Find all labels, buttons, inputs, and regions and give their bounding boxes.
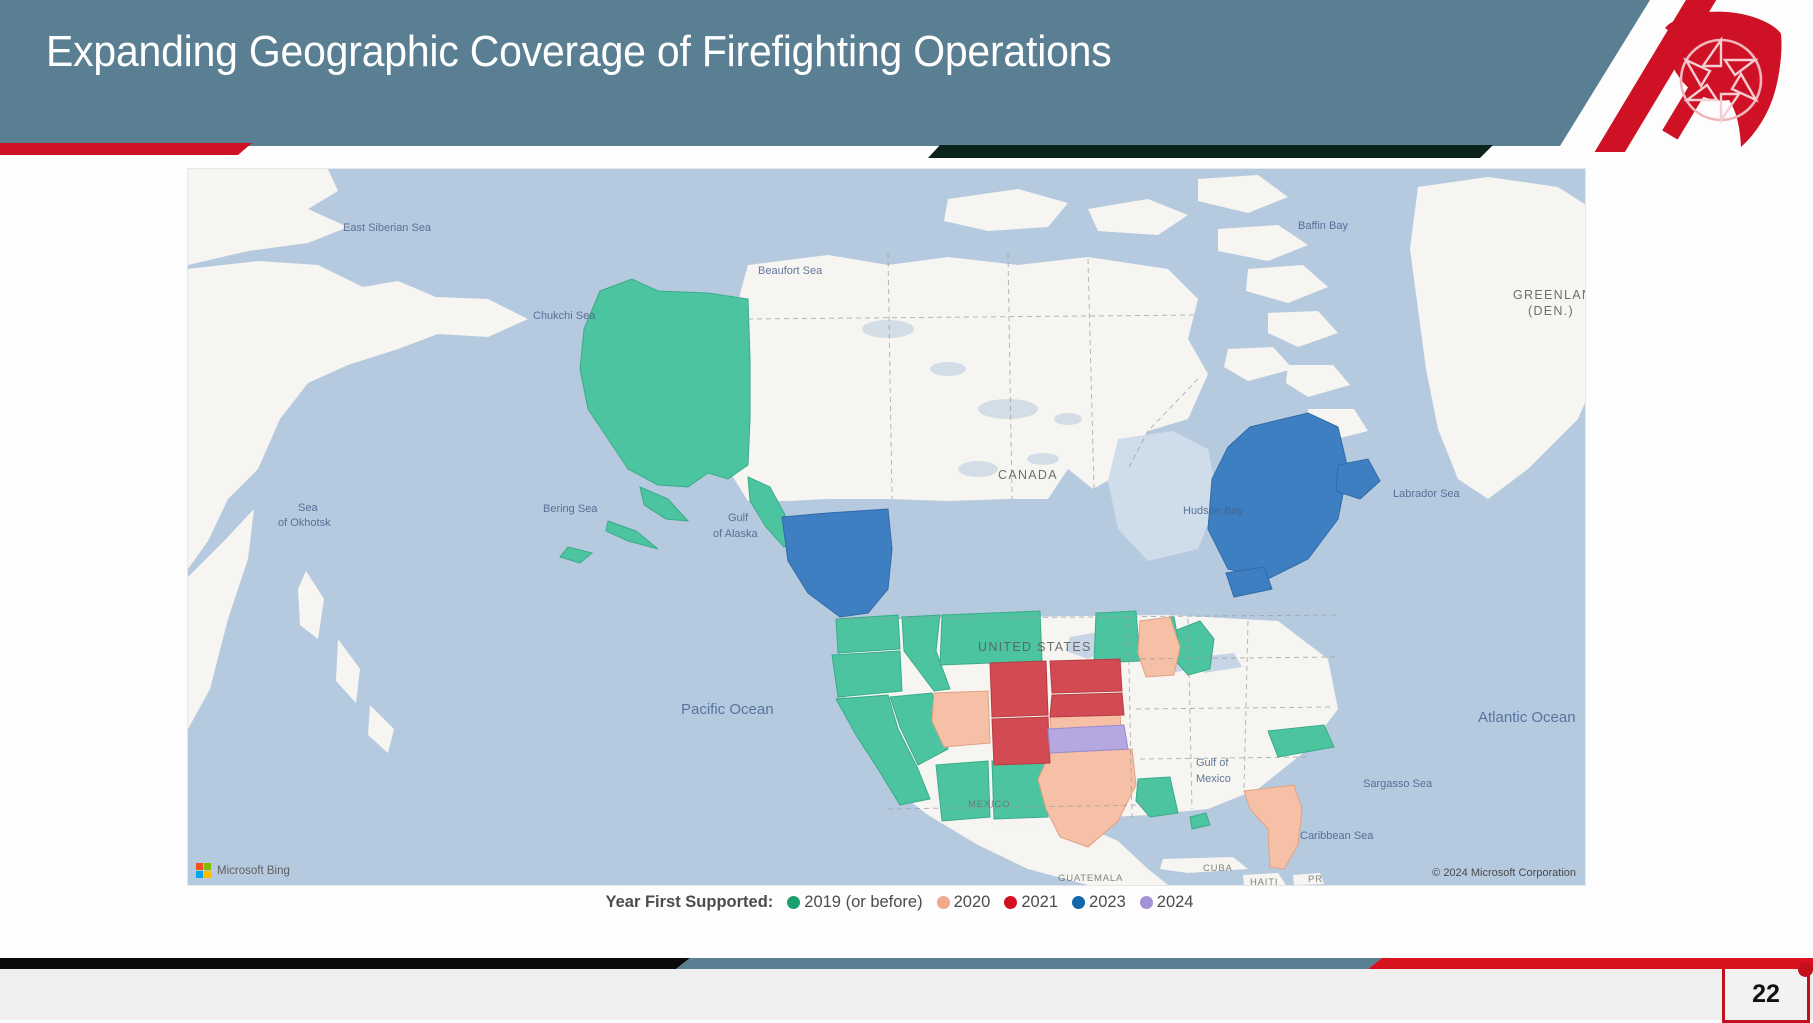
- label-country: CANADA: [998, 468, 1058, 482]
- microsoft-logo-icon: [196, 863, 211, 878]
- bing-attribution-label: Microsoft Bing: [217, 865, 290, 877]
- header-dark-accent-bar: [928, 145, 1493, 158]
- label-sea: Bering Sea: [543, 503, 598, 515]
- footer-accent-bar: [0, 958, 1813, 969]
- label-country: HAITI: [1250, 877, 1278, 885]
- label-sea: Baffin Bay: [1298, 220, 1348, 232]
- legend-label: 2020: [954, 893, 991, 912]
- label-country: GREENLAND: [1513, 288, 1585, 302]
- label-sea: Chukchi Sea: [533, 310, 596, 322]
- legend-dot-icon: [787, 896, 800, 909]
- label-sea: Sea: [298, 502, 318, 514]
- legend-label: 2019 (or before): [804, 893, 922, 912]
- slide-header: Expanding Geographic Coverage of Firefig…: [0, 0, 1813, 152]
- aperture-pin-logo: [1657, 8, 1785, 148]
- page-title: Expanding Geographic Coverage of Firefig…: [46, 27, 1112, 77]
- legend-dot-icon: [1072, 896, 1085, 909]
- legend-item-2020[interactable]: 2020: [937, 893, 991, 912]
- label-sea: Hudson Bay: [1183, 505, 1243, 517]
- label-country: (DEN.): [1528, 304, 1574, 318]
- footer-segment-blue: [676, 958, 1382, 969]
- legend-item-2024[interactable]: 2024: [1140, 893, 1194, 912]
- bing-attribution[interactable]: Microsoft Bing: [196, 863, 290, 878]
- legend-label: 2023: [1089, 893, 1126, 912]
- label-sea: Sargasso Sea: [1363, 778, 1433, 790]
- page-number-box: 22: [1722, 969, 1810, 1023]
- legend-label: 2024: [1157, 893, 1194, 912]
- legend-dot-icon: [937, 896, 950, 909]
- legend-item-2023[interactable]: 2023: [1072, 893, 1126, 912]
- footer-segment-dark: [0, 958, 690, 969]
- page-number: 22: [1752, 980, 1780, 1009]
- label-country: UNITED STATES: [978, 640, 1092, 654]
- footer-segment-red: [1368, 958, 1813, 969]
- legend-title: Year First Supported:: [606, 893, 774, 912]
- label-country: CUBA: [1203, 863, 1233, 874]
- label-sea: Labrador Sea: [1393, 488, 1461, 500]
- label-sea: Gulf: [728, 512, 749, 524]
- page-number-dot-icon: [1798, 962, 1813, 977]
- map-text-labels: East Siberian Sea Beaufort Sea Chukchi S…: [188, 169, 1585, 885]
- legend-label: 2021: [1021, 893, 1058, 912]
- label-sea: of Alaska: [713, 528, 759, 540]
- label-sea: Caribbean Sea: [1300, 830, 1374, 842]
- legend-item-2019[interactable]: 2019 (or before): [787, 893, 922, 912]
- label-sea: Beaufort Sea: [758, 265, 823, 277]
- legend-dot-icon: [1140, 896, 1153, 909]
- footer-area: [0, 969, 1813, 1020]
- choropleth-map[interactable]: East Siberian Sea Beaufort Sea Chukchi S…: [187, 168, 1586, 886]
- label-sea: Gulf of: [1196, 757, 1229, 769]
- label-country: PR: [1308, 874, 1323, 885]
- label-country: GUATEMALA: [1058, 873, 1123, 884]
- legend-item-2021[interactable]: 2021: [1004, 893, 1058, 912]
- map-copyright: © 2024 Microsoft Corporation: [1432, 867, 1576, 879]
- legend-dot-icon: [1004, 896, 1017, 909]
- label-sea: East Siberian Sea: [343, 222, 432, 234]
- label-ocean: Atlantic Ocean: [1478, 709, 1576, 726]
- label-country: MEXICO: [968, 799, 1010, 810]
- map-legend: Year First Supported: 2019 (or before) 2…: [0, 893, 1813, 912]
- label-sea: of Okhotsk: [278, 517, 331, 529]
- header-red-accent-left: [0, 143, 252, 155]
- label-ocean: Pacific Ocean: [681, 701, 774, 718]
- label-sea: Mexico: [1196, 773, 1231, 785]
